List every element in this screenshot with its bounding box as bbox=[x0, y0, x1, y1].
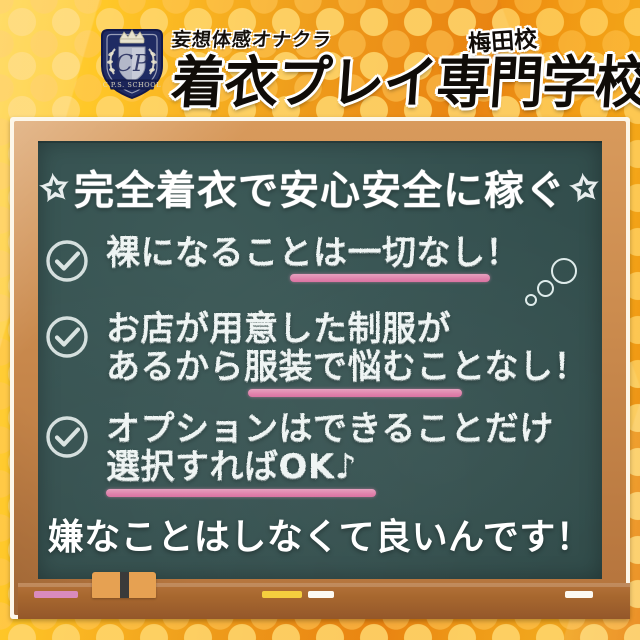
bullet-item-1: 裸になることは一切なし！ bbox=[44, 234, 520, 284]
crest-emblem-icon: CP C.P.S. SCHOOL bbox=[96, 22, 168, 102]
board-headline: ✩完全着衣で安心安全に稼ぐ✩ bbox=[0, 158, 640, 216]
chalk-yellow bbox=[262, 591, 302, 598]
brand-title: 着衣プレイ専門学校 bbox=[169, 36, 640, 115]
bullet-2-line-1: お店が用意した制服が bbox=[106, 310, 588, 348]
check-circle-icon bbox=[44, 238, 90, 284]
eraser-band bbox=[120, 572, 129, 598]
emblem-ribbon-text: C.P.S. SCHOOL bbox=[103, 81, 161, 89]
pink-underline-3 bbox=[106, 489, 376, 497]
star-right-icon: ✩ bbox=[564, 169, 607, 209]
bubble-large-icon bbox=[551, 258, 577, 284]
board-headline-text: 完全着衣で安心安全に稼ぐ bbox=[74, 168, 566, 214]
star-left-icon: ✩ bbox=[34, 169, 77, 209]
bubble-small-icon bbox=[525, 294, 537, 306]
chalk-pink bbox=[34, 591, 78, 598]
check-circle-icon bbox=[44, 414, 90, 460]
bullet-3-line-2: 選択すればOK♪ bbox=[106, 448, 554, 486]
bubble-medium-icon bbox=[537, 280, 554, 297]
site-header: CP C.P.S. SCHOOL 妄想体感オナクラ 着衣プレイ専門学校 梅田 bbox=[0, 0, 640, 115]
poster-root: CP C.P.S. SCHOOL 妄想体感オナクラ 着衣プレイ専門学校 梅田 bbox=[0, 0, 640, 640]
board-closing-text: 嫌なことはしなくて良いんです！ bbox=[0, 508, 640, 560]
bullet-item-3: オプションはできることだけ 選択すればOK♪ bbox=[44, 410, 554, 486]
pink-underline-1 bbox=[290, 274, 490, 282]
campus-badge: 梅田校 bbox=[467, 20, 538, 59]
bullet-2-line-2: あるから服装で悩むことなし！ bbox=[106, 348, 588, 386]
bullet-3-lines: オプションはできることだけ 選択すればOK♪ bbox=[106, 410, 554, 486]
svg-text:CP: CP bbox=[115, 51, 149, 77]
pink-underline-2 bbox=[248, 389, 462, 397]
bullet-1-lines: 裸になることは一切なし！ bbox=[106, 234, 520, 272]
bullet-3-line-1: オプションはできることだけ bbox=[106, 410, 554, 448]
chalk-white-2 bbox=[565, 591, 593, 598]
bullet-item-2: お店が用意した制服が あるから服装で悩むことなし！ bbox=[44, 310, 588, 386]
bullet-1-line-1: 裸になることは一切なし！ bbox=[106, 234, 520, 272]
blackboard-eraser bbox=[92, 572, 156, 598]
bullet-2-lines: お店が用意した制服が あるから服装で悩むことなし！ bbox=[106, 310, 588, 386]
check-circle-icon bbox=[44, 314, 90, 360]
chalk-white bbox=[308, 591, 334, 598]
